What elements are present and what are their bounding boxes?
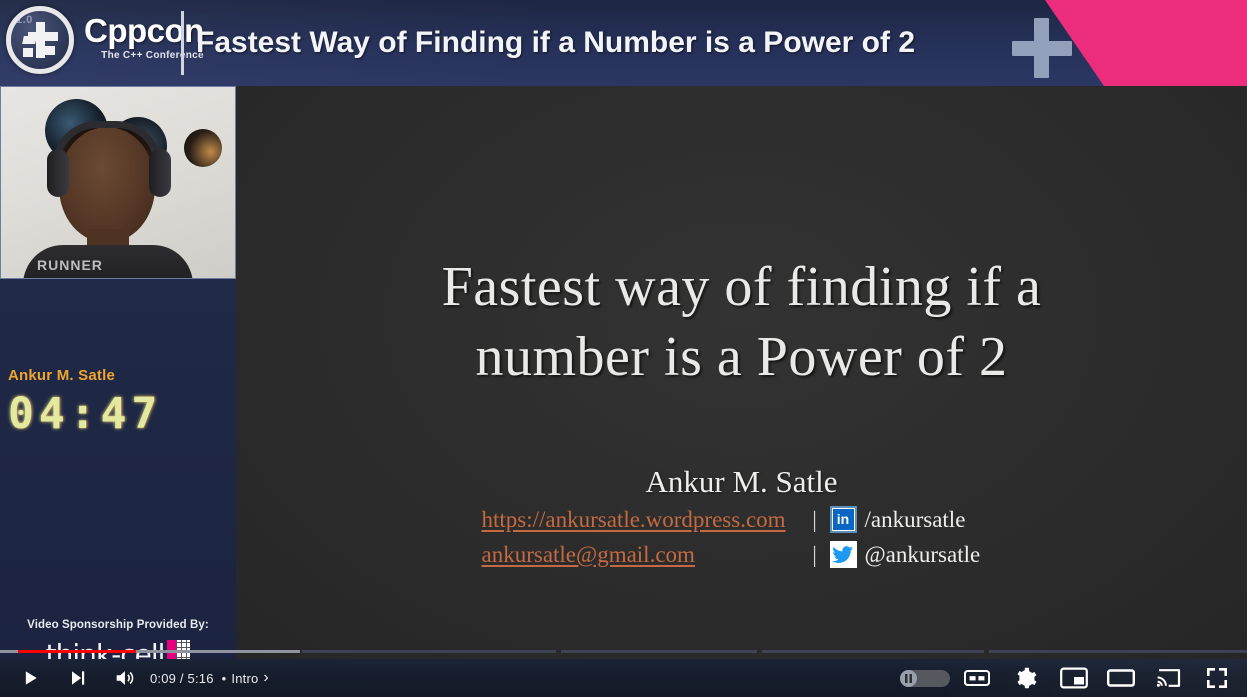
- logo-tagline: The C++ Conference: [84, 50, 204, 61]
- slide-author: Ankur M. Satle: [236, 464, 1247, 500]
- countdown-timer: 04:47: [8, 389, 162, 439]
- progress-played: [18, 650, 136, 653]
- cppcon-wordmark: Cppcon The C++ Conference: [84, 14, 204, 61]
- plus-icon: [1012, 18, 1072, 78]
- time-chapter-separator: •: [222, 671, 227, 686]
- speaker-name: Ankur M. Satle: [8, 367, 115, 384]
- logo-glyph-text: 1.0: [16, 14, 33, 26]
- chapter-display[interactable]: • Intro ›: [222, 669, 269, 687]
- twitter-icon[interactable]: [830, 541, 857, 568]
- linkedin-handle: /ankursatle: [865, 507, 966, 533]
- linkedin-icon[interactable]: in: [830, 506, 857, 533]
- website-link[interactable]: https://ankursatle.wordpress.com: [482, 507, 800, 533]
- chapter-label: Intro: [231, 671, 258, 686]
- twitter-handle: @ankursatle: [865, 542, 981, 568]
- cppcon-logo-icon: 1.0: [6, 6, 74, 74]
- contact-row: ankursatle@gmail.com | @ankursatle: [482, 541, 1002, 568]
- progress-chapter-segment[interactable]: [561, 650, 757, 653]
- settings-button[interactable]: [1005, 659, 1045, 697]
- youtube-video-player: 1.0 Cppcon The C++ Conference Fastest Wa…: [0, 0, 1247, 697]
- progress-chapter-segment[interactable]: [989, 650, 1247, 653]
- contact-row: https://ankursatle.wordpress.com | in /a…: [482, 506, 1002, 533]
- progress-chapter-segment[interactable]: [0, 650, 297, 653]
- theater-button[interactable]: [1100, 659, 1142, 697]
- progress-chapter-segment[interactable]: [302, 650, 556, 653]
- header-divider: [181, 11, 184, 75]
- contact-separator: |: [800, 542, 830, 568]
- slide-title: Fastest way of finding if a number is a …: [236, 252, 1247, 392]
- twitter-handle-group: @ankursatle: [830, 541, 981, 568]
- speaker-sidebar: RUNNER Ankur M. Satle 04:47 Video Sponso…: [0, 86, 236, 659]
- linkedin-handle-group: in /ankursatle: [830, 506, 966, 533]
- presentation-header: 1.0 Cppcon The C++ Conference Fastest Wa…: [0, 0, 1247, 86]
- slide-title-line-1: Fastest way of finding if a: [236, 252, 1247, 322]
- email-link[interactable]: ankursatle@gmail.com: [482, 542, 800, 568]
- time-display: 0:09 / 5:16: [150, 671, 214, 686]
- miniplayer-button[interactable]: [1053, 659, 1095, 697]
- chevron-right-icon: ›: [263, 669, 269, 687]
- video-progress-bar[interactable]: [0, 650, 1247, 655]
- autoplay-knob-pause-icon: [900, 670, 917, 687]
- sponsor-label: Video Sponsorship Provided By:: [0, 619, 236, 631]
- linkedin-icon-letters: in: [833, 509, 854, 530]
- presentation-slide[interactable]: Fastest way of finding if a number is a …: [236, 86, 1247, 659]
- speaker-webcam-feed: RUNNER: [1, 87, 235, 278]
- fullscreen-button[interactable]: [1196, 659, 1238, 697]
- page-title: Fastest Way of Finding if a Number is a …: [196, 0, 915, 86]
- shirt-text: RUNNER: [37, 257, 133, 272]
- slide-title-line-2: number is a Power of 2: [236, 322, 1247, 392]
- progress-chapter-segment[interactable]: [762, 650, 984, 653]
- volume-button[interactable]: [104, 659, 144, 697]
- time-and-chapter-display: 0:09 / 5:16 • Intro ›: [150, 659, 269, 697]
- play-button[interactable]: [10, 659, 50, 697]
- logo-word: Cppcon: [84, 14, 204, 47]
- subtitles-button[interactable]: [957, 659, 997, 697]
- autoplay-toggle[interactable]: [900, 670, 950, 687]
- next-video-button[interactable]: [57, 659, 97, 697]
- contact-block: https://ankursatle.wordpress.com | in /a…: [236, 506, 1247, 568]
- cast-button[interactable]: [1148, 659, 1190, 697]
- contact-separator: |: [800, 507, 830, 533]
